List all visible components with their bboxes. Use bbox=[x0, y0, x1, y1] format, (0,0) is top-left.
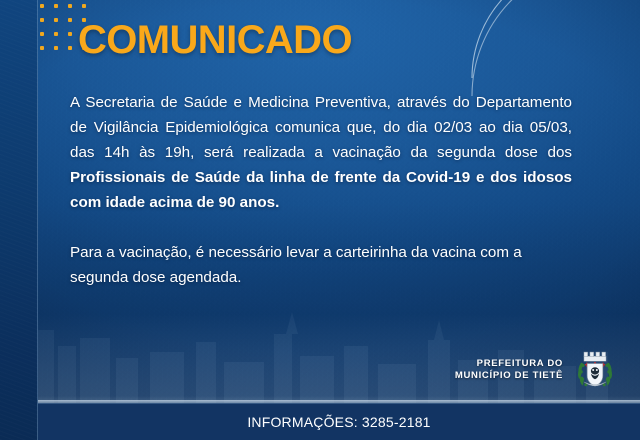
grid-dot bbox=[54, 18, 58, 22]
announcement-body: A Secretaria de Saúde e Medicina Prevent… bbox=[70, 90, 572, 290]
grid-dot bbox=[68, 4, 72, 8]
grid-dot bbox=[82, 4, 86, 8]
grid-dot bbox=[40, 18, 44, 22]
left-accent-rail bbox=[0, 0, 38, 440]
page-title: COMUNICADO bbox=[78, 20, 352, 60]
paragraph-1-regular-text: A Secretaria de Saúde e Medicina Prevent… bbox=[70, 94, 572, 161]
paragraph-1-bold-text: Profissionais de Saúde da linha de frent… bbox=[70, 169, 572, 211]
grid-dot bbox=[68, 32, 72, 36]
grid-dot bbox=[54, 46, 58, 50]
info-bar: INFORMAÇÕES: 3285-2181 bbox=[38, 403, 640, 440]
brand-text: PREFEITURA DO MUNICÍPIO DE TIETÊ bbox=[455, 358, 563, 382]
grid-dot bbox=[40, 46, 44, 50]
brand-line-2: MUNICÍPIO DE TIETÊ bbox=[455, 370, 563, 382]
grid-dot bbox=[40, 4, 44, 8]
info-phone-text: INFORMAÇÕES: 3285-2181 bbox=[247, 414, 430, 430]
grid-dot bbox=[40, 32, 44, 36]
announcement-paragraph-2: Para a vacinação, é necessário levar a c… bbox=[70, 240, 572, 290]
city-coat-of-arms-icon bbox=[572, 347, 618, 393]
announcement-poster: COMUNICADO A Secretaria de Saúde e Medic… bbox=[0, 0, 640, 440]
grid-dot bbox=[68, 18, 72, 22]
grid-dot bbox=[68, 46, 72, 50]
brand-lockup: PREFEITURA DO MUNICÍPIO DE TIETÊ bbox=[455, 347, 618, 393]
grid-dot bbox=[54, 4, 58, 8]
announcement-paragraph-1: A Secretaria de Saúde e Medicina Prevent… bbox=[70, 90, 572, 215]
brand-line-1: PREFEITURA DO bbox=[455, 358, 563, 370]
grid-dot bbox=[54, 32, 58, 36]
